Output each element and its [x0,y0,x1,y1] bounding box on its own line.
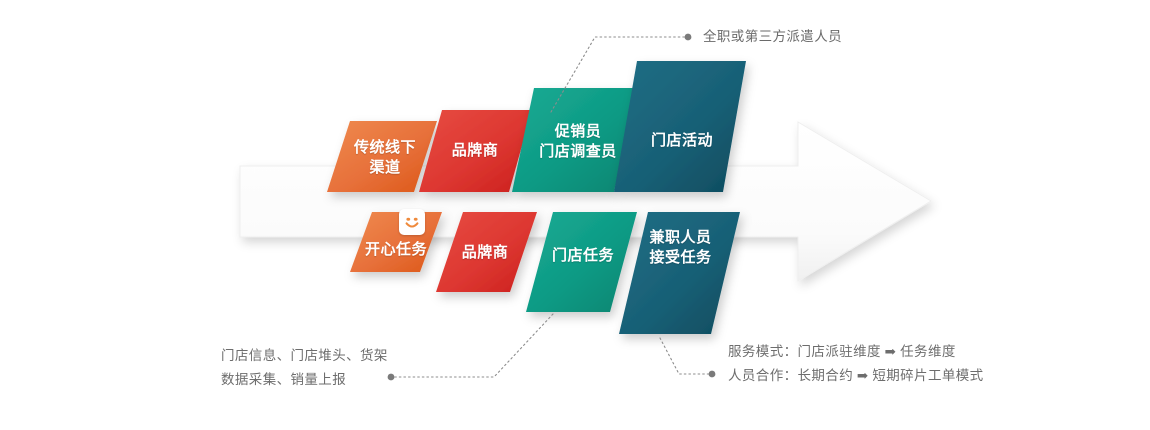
annotation-data-collection: 门店信息、门店堆头、货架 数据采集、销量上报 [221,344,388,392]
annotation-staffing: 全职或第三方派遣人员 [703,25,842,49]
annotation-service-model: 服务模式：门店派驻维度 ➡ 任务维度 人员合作：长期合约 ➡ 短期碎片工单模式 [728,340,984,388]
connector-service-model [660,338,710,374]
top-row-nodes [327,61,746,192]
smiley-face-icon [399,209,425,235]
node-store-activity [614,61,746,192]
connector-dot-data-collection [388,374,395,381]
connector-dot-service-model [709,371,716,378]
connector-data-collection [393,314,553,377]
connector-dot-staffing [685,34,692,41]
smiley-app-icon [399,209,425,235]
diagram-canvas: 传统线下 渠道 品牌商 促销员 门店调查员 门店活动 开心任务 品牌商 门店任务… [0,0,1150,430]
